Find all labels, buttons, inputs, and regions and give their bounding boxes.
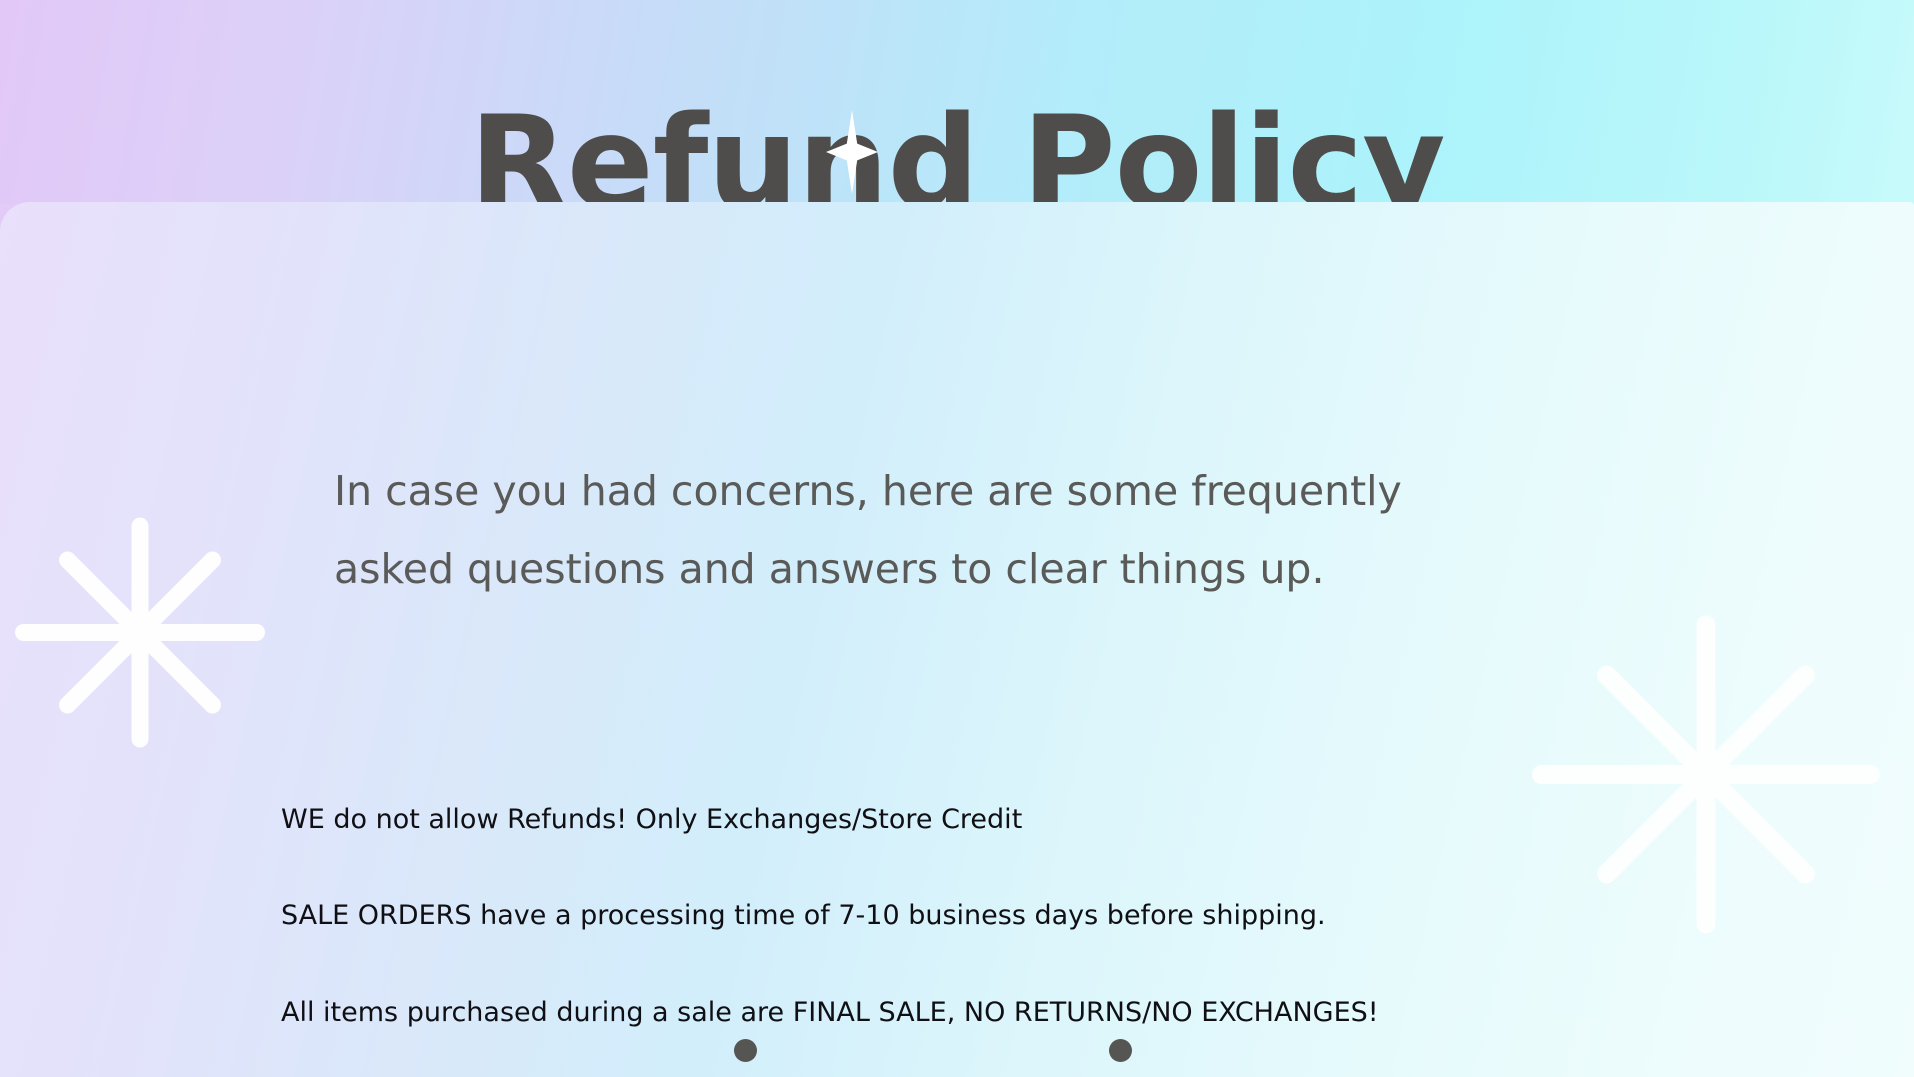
starburst-ray	[56, 548, 225, 717]
starburst-ray	[56, 548, 225, 717]
policy-item-sale-orders: SALE ORDERS have a processing time of 7-…	[281, 897, 1901, 935]
page-title: Refund Policy	[0, 86, 1914, 204]
intro-line-2: asked questions and answers to clear thi…	[334, 530, 1534, 608]
starburst-ray	[132, 517, 149, 747]
policy-list: WE do not allow Refunds! Only Exchanges/…	[281, 774, 1901, 1077]
policy-item-final-sale: All items purchased during a sale are FI…	[281, 994, 1901, 1032]
intro-line-1: In case you had concerns, here are some …	[334, 452, 1534, 530]
pagination-dot-1[interactable]	[734, 1039, 757, 1062]
pagination-dot-2[interactable]	[1109, 1039, 1132, 1062]
starburst-ray	[15, 624, 265, 641]
intro-paragraph: In case you had concerns, here are some …	[334, 452, 1534, 608]
refund-policy-page: Refund Policy In case you had concerns, …	[0, 0, 1914, 1077]
policy-item-refunds: WE do not allow Refunds! Only Exchanges/…	[281, 801, 1901, 839]
starburst-icon-left	[15, 507, 265, 757]
content-card: In case you had concerns, here are some …	[0, 202, 1914, 1077]
header-band: Refund Policy	[0, 0, 1914, 204]
